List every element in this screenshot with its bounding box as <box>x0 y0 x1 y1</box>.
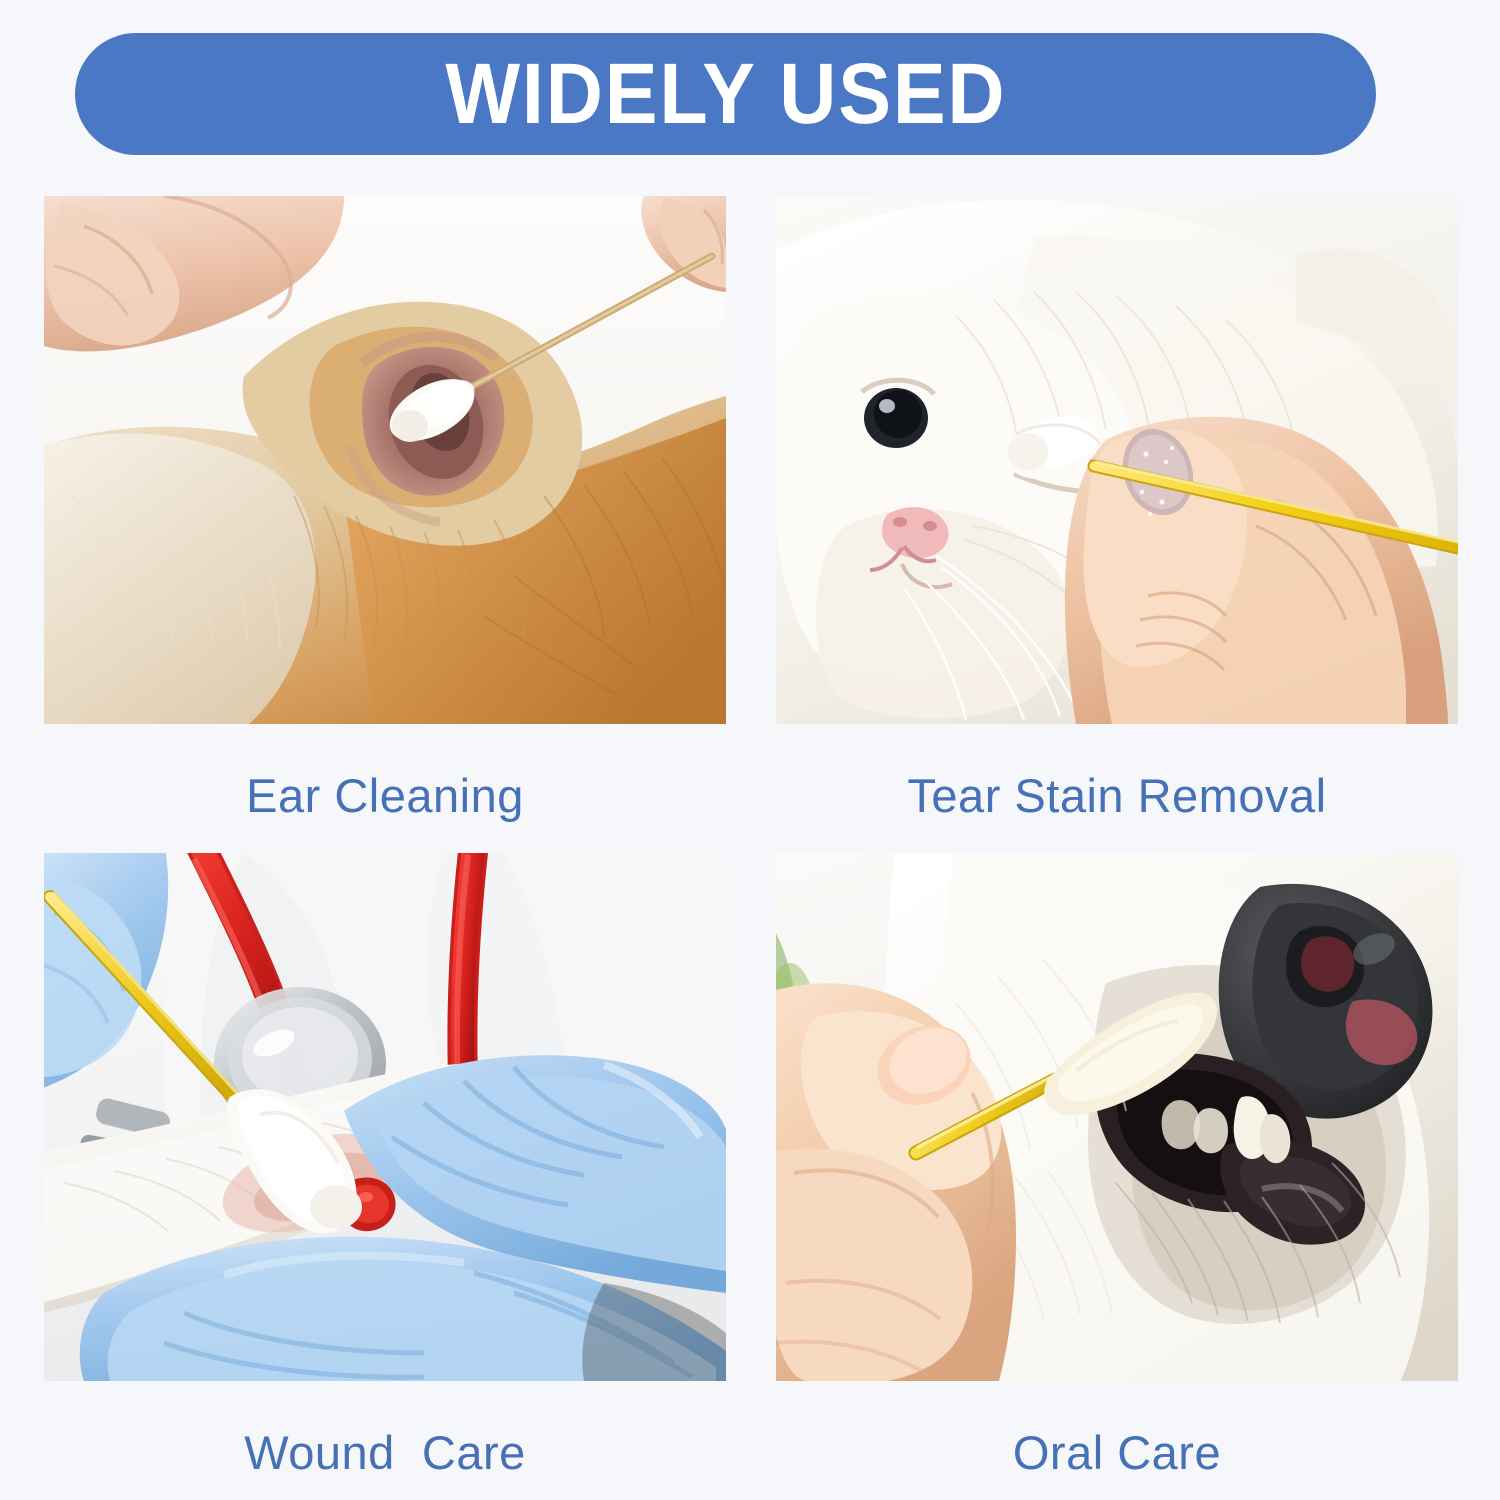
use-case-card-wound-care[interactable]: Wound Care <box>44 853 726 1500</box>
page-title: WIDELY USED <box>445 51 1006 137</box>
wound-care-photo <box>44 853 726 1381</box>
dog-oral-care-photo <box>776 853 1458 1381</box>
use-case-grid: Ear Cleaning <box>44 196 1458 1466</box>
use-case-card-oral-care[interactable]: Oral Care <box>776 853 1458 1500</box>
caption-wound-care: Wound Care <box>244 1427 526 1479</box>
caption-ear-cleaning: Ear Cleaning <box>246 770 524 822</box>
caption-oral-care: Oral Care <box>1013 1427 1221 1479</box>
use-case-card-ear-cleaning[interactable]: Ear Cleaning <box>44 196 726 853</box>
cat-tear-stain-photo <box>776 196 1458 724</box>
banner-pill: WIDELY USED <box>75 33 1376 155</box>
dog-ear-cleaning-photo <box>44 196 726 724</box>
caption-tear-stain-removal: Tear Stain Removal <box>907 770 1326 822</box>
use-case-card-tear-stain-removal[interactable]: Tear Stain Removal <box>776 196 1458 853</box>
header-banner: WIDELY USED <box>75 33 1376 155</box>
